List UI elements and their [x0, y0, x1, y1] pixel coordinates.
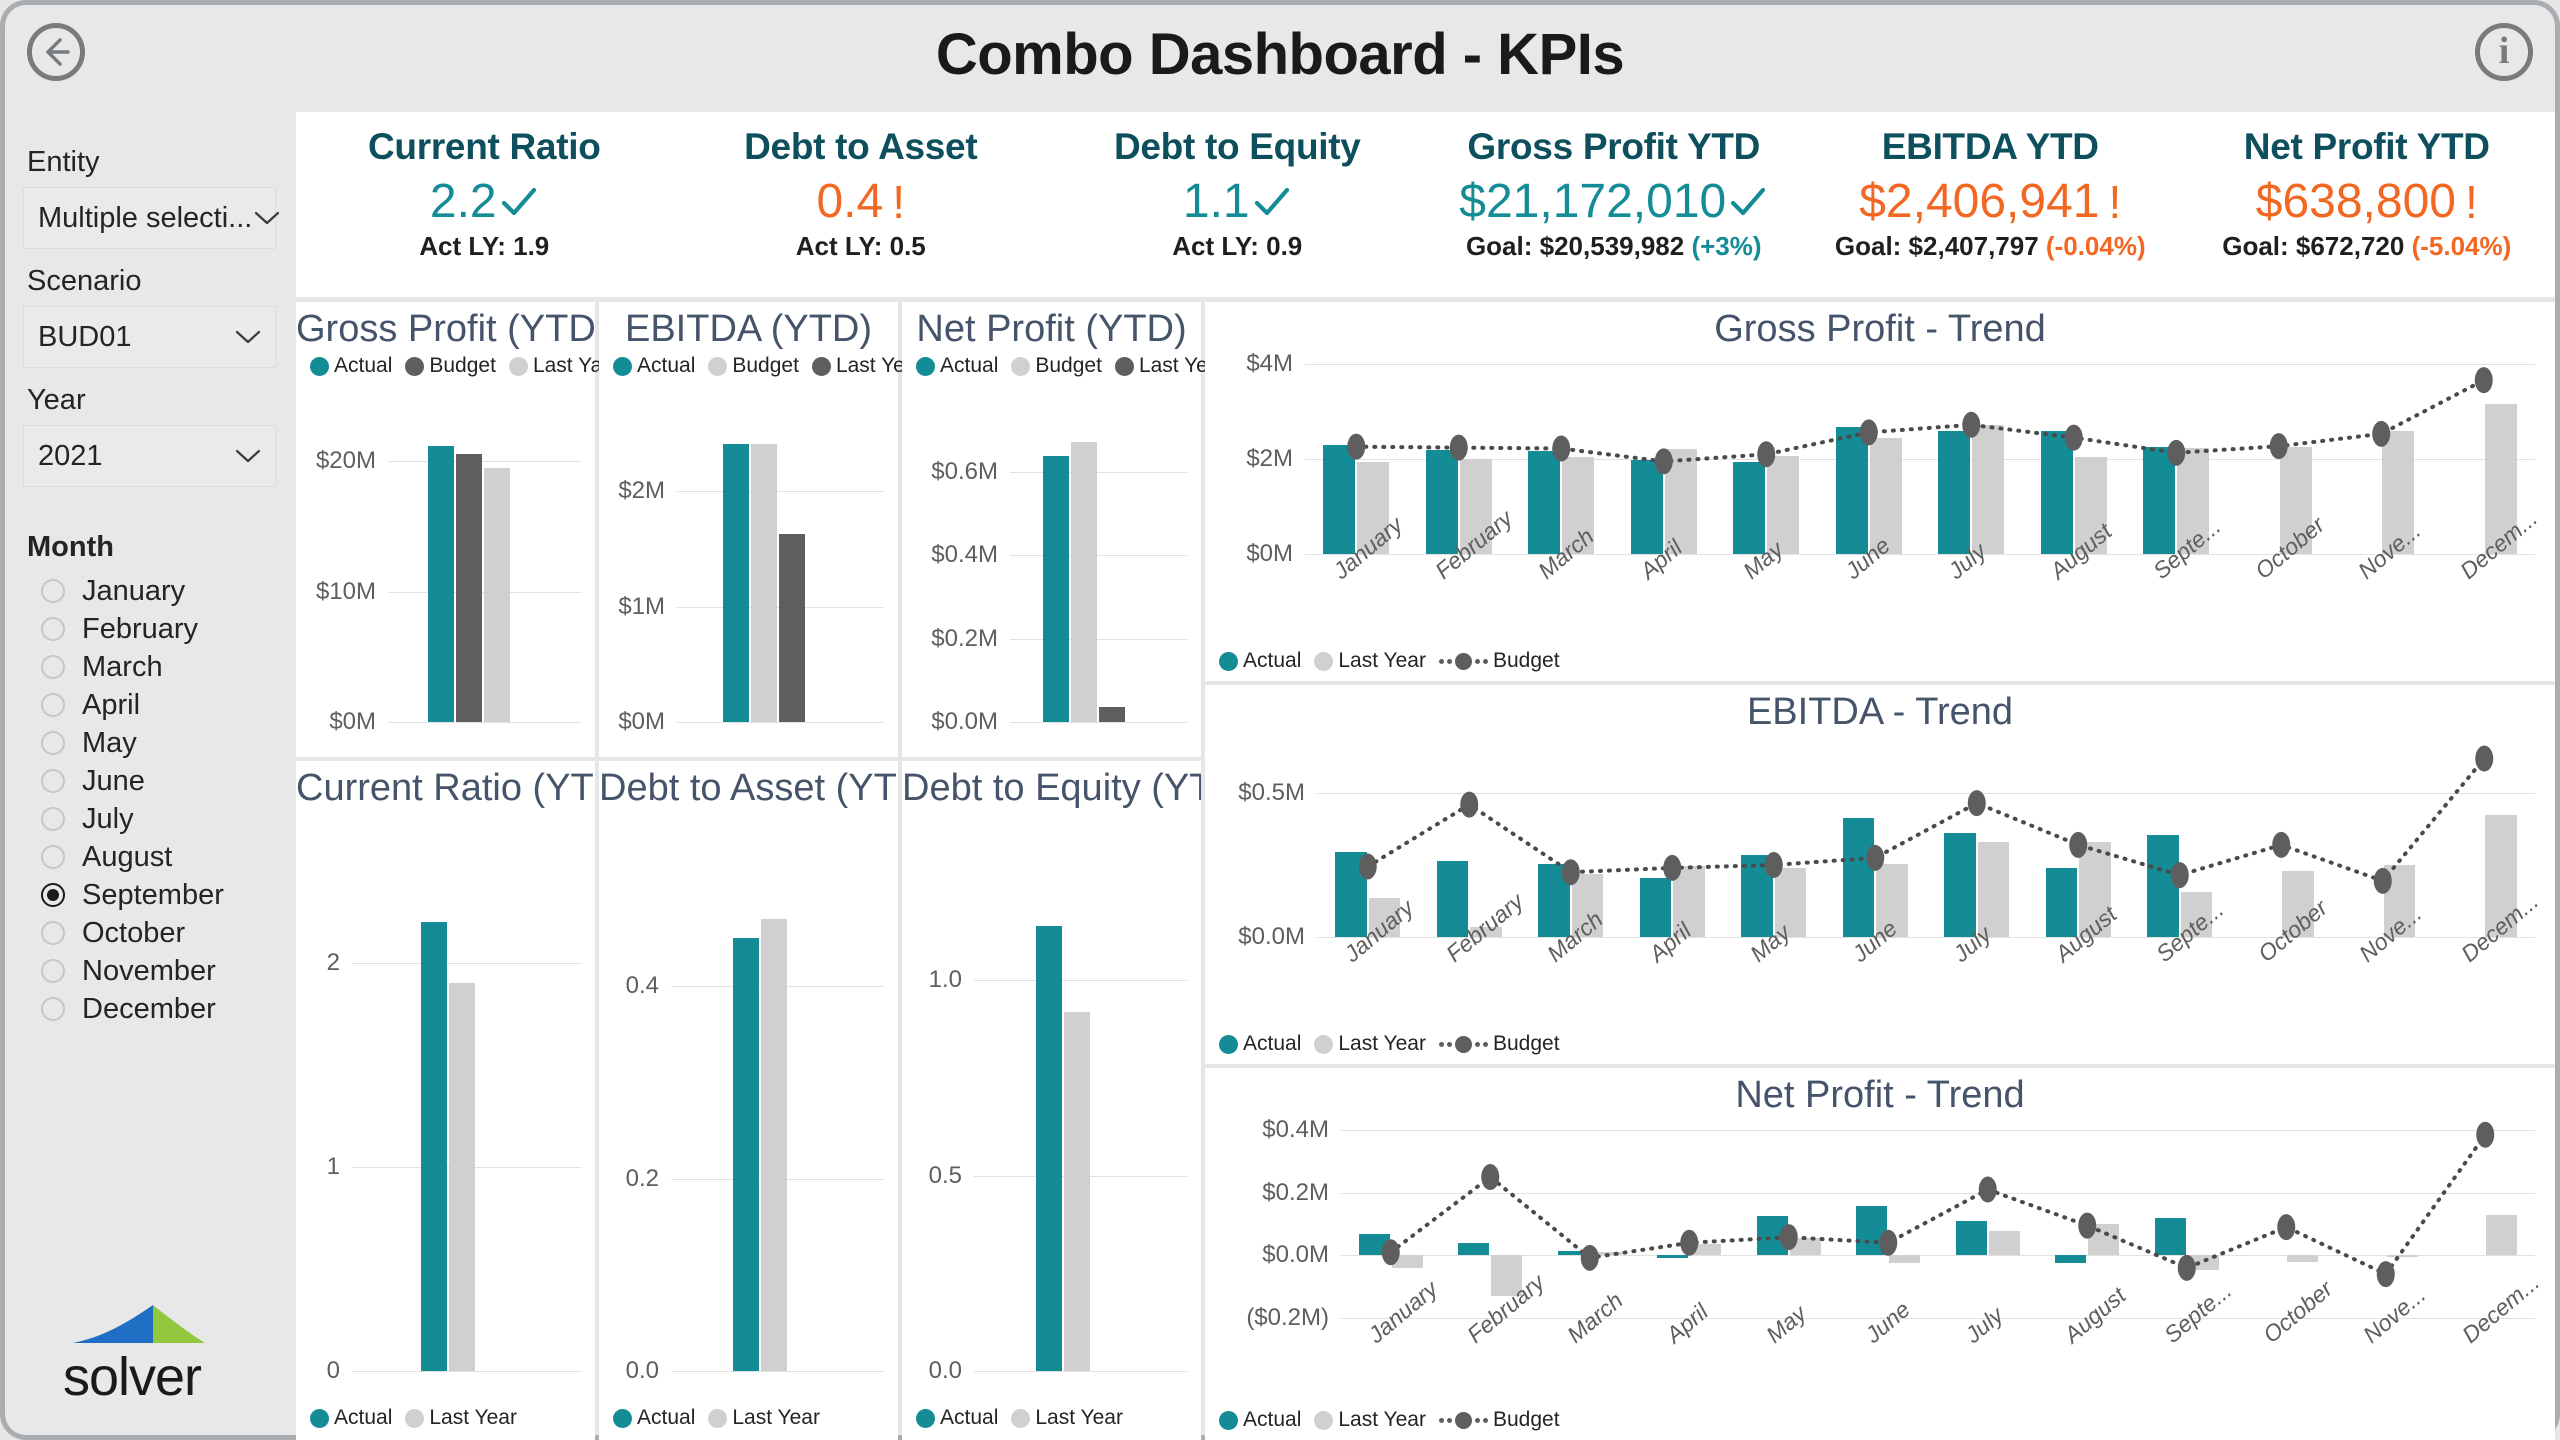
- chart-legend: ActualLast Year: [310, 1406, 517, 1430]
- y-axis-tick: 2: [296, 949, 340, 977]
- chart-title: Debt to Asset (YTD): [599, 761, 898, 810]
- chart-title: Net Profit - Trend: [1205, 1068, 2555, 1117]
- chart-tile-gross-profit-ytd[interactable]: Gross Profit (YTD)ActualBudgetLast Yaer$…: [296, 302, 595, 757]
- legend-item-budget[interactable]: Budget: [1011, 354, 1102, 378]
- solver-logo-mark: solver: [55, 1299, 255, 1409]
- y-axis-tick: $0.0M: [1207, 1241, 1329, 1269]
- kpi-sub-prefix: Goal: $20,539,982: [1466, 231, 1684, 261]
- radio-icon: [41, 807, 65, 831]
- legend-item-last-year[interactable]: Last Year: [1314, 1032, 1426, 1056]
- kpi-value: 2.2: [430, 174, 539, 229]
- y-axis-tick: $0.0M: [902, 708, 998, 736]
- chart-title: Debt to Equity (YTD): [902, 761, 1201, 810]
- legend-swatch: [708, 1409, 727, 1428]
- legend-swatch: [509, 357, 528, 376]
- radio-icon: [41, 845, 65, 869]
- legend-item-last-year[interactable]: Last Year: [405, 1406, 517, 1430]
- budget-marker: [1450, 435, 1468, 461]
- month-option-december[interactable]: December: [5, 990, 296, 1028]
- gridline: [388, 722, 581, 723]
- kpi-title: Debt to Equity: [1114, 126, 1361, 168]
- legend-swatch: [1011, 357, 1030, 376]
- legend-swatch: [310, 1409, 329, 1428]
- radio-icon: [41, 959, 65, 983]
- budget-marker: [2065, 425, 2083, 451]
- legend-swatch: [1314, 1035, 1333, 1054]
- gridline: [352, 1371, 581, 1372]
- month-option-label: August: [82, 841, 172, 874]
- bar-actual[interactable]: [1043, 456, 1069, 722]
- legend-swatch: [1219, 1411, 1238, 1430]
- kpi-card-net-profit-ytd[interactable]: Net Profit YTD$638,800!Goal: $672,720 (-…: [2179, 112, 2556, 297]
- check-icon: [1728, 182, 1768, 222]
- bar-last-year[interactable]: [1064, 1012, 1090, 1371]
- kpi-value: $2,406,941!: [1859, 174, 2121, 229]
- legend-item-actual[interactable]: Actual: [1219, 1408, 1301, 1432]
- kpi-card-gross-profit-ytd[interactable]: Gross Profit YTD$21,172,010Goal: $20,539…: [1426, 112, 1803, 297]
- legend-label: Actual: [637, 1406, 695, 1430]
- kpi-sub-prefix: Act LY: 0.5: [796, 231, 926, 261]
- budget-marker: [2069, 832, 2087, 858]
- budget-marker: [1382, 1239, 1400, 1265]
- kpi-number: 1.1: [1183, 174, 1250, 229]
- legend-swatch: [1011, 1409, 1030, 1428]
- chart-title: Gross Profit (YTD): [296, 302, 595, 351]
- month-radio-group: JanuaryFebruaryMarchAprilMayJuneJulyAugu…: [5, 572, 296, 1028]
- y-axis-tick: 0.0: [599, 1357, 659, 1385]
- year-slicer[interactable]: 2021: [23, 425, 276, 487]
- month-option-january[interactable]: January: [5, 572, 296, 610]
- radio-icon: [41, 731, 65, 755]
- gridline: [1010, 555, 1187, 556]
- plot-area: [1010, 422, 1187, 722]
- month-option-september[interactable]: September: [5, 876, 296, 914]
- month-option-march[interactable]: March: [5, 648, 296, 686]
- budget-marker: [2272, 832, 2290, 858]
- y-axis-tick: $0.2M: [1207, 1179, 1329, 1207]
- budget-marker: [1765, 852, 1783, 878]
- scenario-slicer[interactable]: BUD01: [23, 306, 276, 368]
- y-axis-tick: $0M: [296, 708, 376, 736]
- budget-marker: [2476, 1122, 2494, 1148]
- legend-label: Last Year: [1035, 1406, 1123, 1430]
- month-option-february[interactable]: February: [5, 610, 296, 648]
- budget-marker: [1460, 792, 1478, 818]
- legend-item-budget[interactable]: Budget: [1439, 649, 1560, 673]
- bar-last-year[interactable]: [761, 919, 787, 1371]
- legend-item-budget[interactable]: Budget: [1439, 1032, 1560, 1056]
- y-axis-tick: ($0.2M): [1207, 1304, 1329, 1332]
- legend-label: Last Year: [1338, 1032, 1426, 1056]
- chart-tile-net-profit-ytd[interactable]: Net Profit (YTD)ActualBudgetLast Year$0.…: [902, 302, 1201, 757]
- chart-title: EBITDA (YTD): [599, 302, 898, 351]
- bar-last-year[interactable]: [449, 983, 475, 1371]
- gridline: [1010, 639, 1187, 640]
- month-option-label: February: [82, 613, 198, 646]
- kpi-subtext: Act LY: 1.9: [419, 231, 549, 262]
- legend-label: Budget: [1493, 1032, 1560, 1056]
- y-axis-tick: 0: [296, 1357, 340, 1385]
- kpi-sub-prefix: Goal: $2,407,797: [1835, 231, 2039, 261]
- plot-area: [352, 871, 581, 1371]
- y-axis-tick: $0.2M: [902, 625, 998, 653]
- budget-marker: [1962, 412, 1980, 438]
- bar-last-year[interactable]: [1099, 707, 1125, 722]
- bar-actual[interactable]: [421, 922, 447, 1371]
- legend-label: Budget: [732, 354, 799, 378]
- y-axis-tick: $2M: [599, 477, 665, 505]
- legend-label: Last Year: [1338, 649, 1426, 673]
- bar-actual[interactable]: [1036, 926, 1062, 1371]
- legend-swatch: [405, 1409, 424, 1428]
- y-axis-tick: $1M: [599, 593, 665, 621]
- budget-marker: [1860, 419, 1878, 445]
- gridline: [352, 963, 581, 964]
- chart-legend: ActualLast YearBudget: [1219, 649, 1560, 673]
- legend-item-actual[interactable]: Actual: [916, 1406, 998, 1430]
- y-axis-tick: $4M: [1207, 350, 1293, 378]
- legend-label: Actual: [1243, 649, 1301, 673]
- chart-tile-net-profit-trend[interactable]: Net Profit - TrendActualLast YearBudget$…: [1205, 1068, 2555, 1440]
- legend-item-last-year[interactable]: Last Year: [1314, 1408, 1426, 1432]
- budget-marker: [2078, 1213, 2096, 1239]
- solver-logo: solver: [55, 1299, 255, 1409]
- gridline: [1010, 472, 1187, 473]
- budget-marker: [1879, 1230, 1897, 1256]
- y-axis-tick: 0.4: [599, 972, 659, 1000]
- chart-title: Gross Profit - Trend: [1205, 302, 2555, 351]
- kpi-title: Debt to Asset: [744, 126, 977, 168]
- kpi-number: 0.4: [816, 174, 883, 229]
- month-option-may[interactable]: May: [5, 724, 296, 762]
- legend-item-actual[interactable]: Actual: [916, 354, 998, 378]
- kpi-card-current-ratio[interactable]: Current Ratio2.2Act LY: 1.9: [296, 112, 673, 297]
- y-axis-tick: 1.0: [902, 966, 962, 994]
- month-option-october[interactable]: October: [5, 914, 296, 952]
- bar-last-yaer[interactable]: [484, 468, 510, 722]
- legend-item-actual[interactable]: Actual: [1219, 649, 1301, 673]
- dotted-line-icon: [1439, 653, 1488, 670]
- gridline: [677, 491, 884, 492]
- legend-item-actual[interactable]: Actual: [310, 354, 392, 378]
- entity-slicer[interactable]: Multiple selecti...: [23, 187, 276, 249]
- radio-icon: [41, 617, 65, 641]
- chart-legend: ActualLast Year: [916, 1406, 1123, 1430]
- month-option-label: May: [82, 727, 137, 760]
- legend-label: Last Year: [732, 1406, 820, 1430]
- budget-marker: [2374, 868, 2392, 894]
- legend-swatch: [405, 357, 424, 376]
- bar-actual[interactable]: [733, 938, 759, 1371]
- check-icon: [1252, 182, 1292, 222]
- chevron-down-icon: [233, 328, 263, 346]
- bar-actual[interactable]: [723, 444, 749, 722]
- warning-icon: !: [885, 175, 905, 229]
- kpi-subtext: Goal: $672,720 (-5.04%): [2222, 231, 2511, 262]
- legend-item-actual[interactable]: Actual: [613, 354, 695, 378]
- plot-area: [388, 422, 581, 722]
- chart-tile-gross-profit-trend[interactable]: Gross Profit - TrendActualLast YearBudge…: [1205, 302, 2555, 681]
- budget-marker: [1347, 434, 1365, 460]
- y-axis-tick: $10M: [296, 578, 376, 606]
- month-option-april[interactable]: April: [5, 686, 296, 724]
- month-option-label: July: [82, 803, 134, 836]
- kpi-subtext: Act LY: 0.9: [1172, 231, 1302, 262]
- budget-marker: [1680, 1230, 1698, 1256]
- plot-area: [671, 871, 884, 1371]
- plot-area: [677, 422, 884, 722]
- bar-budget[interactable]: [751, 444, 777, 722]
- kpi-title: EBITDA YTD: [1882, 126, 2099, 168]
- dashboard-root: Combo Dashboard - KPIs i Entity Multiple…: [0, 0, 2560, 1440]
- svg-text:solver: solver: [63, 1347, 202, 1407]
- legend-item-actual[interactable]: Actual: [310, 1406, 392, 1430]
- y-axis-tick: $2M: [1207, 445, 1293, 473]
- budget-marker: [1968, 790, 1986, 816]
- chart-title: Current Ratio (YTD): [296, 761, 595, 810]
- gridline: [677, 722, 884, 723]
- gridline: [1305, 554, 2535, 555]
- legend-item-budget[interactable]: Budget: [405, 354, 496, 378]
- chart-tile-ebitda-trend[interactable]: EBITDA - TrendActualLast YearBudget$0.5M…: [1205, 685, 2555, 1064]
- budget-marker: [2167, 440, 2185, 466]
- budget-marker: [1780, 1224, 1798, 1250]
- dotted-line-icon: [1439, 1412, 1488, 1429]
- budget-marker: [2475, 367, 2493, 393]
- month-option-august[interactable]: August: [5, 838, 296, 876]
- gridline: [974, 980, 1187, 981]
- kpi-number: $2,406,941: [1859, 174, 2099, 229]
- legend-swatch: [1314, 652, 1333, 671]
- gridline: [1341, 1318, 2535, 1319]
- scenario-label: Scenario: [5, 265, 296, 298]
- kpi-card-debt-to-equity[interactable]: Debt to Equity1.1Act LY: 0.9: [1049, 112, 1426, 297]
- budget-marker: [1866, 845, 1884, 871]
- legend-label: Budget: [429, 354, 496, 378]
- legend-swatch: [916, 357, 935, 376]
- budget-marker: [2171, 862, 2189, 888]
- kpi-card-ebitda-ytd[interactable]: EBITDA YTD$2,406,941!Goal: $2,407,797 (-…: [1802, 112, 2179, 297]
- chart-legend: ActualBudgetLast Year: [613, 354, 924, 378]
- entity-value: Multiple selecti...: [38, 202, 252, 235]
- kpi-card-debt-to-asset[interactable]: Debt to Asset0.4!Act LY: 0.5: [673, 112, 1050, 297]
- kpi-number: $21,172,010: [1459, 174, 1726, 229]
- kpi-strip: Current Ratio2.2Act LY: 1.9Debt to Asset…: [296, 112, 2555, 297]
- year-label: Year: [5, 384, 296, 417]
- month-option-label: April: [82, 689, 140, 722]
- check-icon: [499, 182, 539, 222]
- budget-marker: [2372, 421, 2390, 447]
- budget-marker: [1655, 448, 1673, 474]
- legend-item-actual[interactable]: Actual: [1219, 1032, 1301, 1056]
- radio-icon: [41, 655, 65, 679]
- legend-item-budget[interactable]: Budget: [1439, 1408, 1560, 1432]
- month-option-june[interactable]: June: [5, 762, 296, 800]
- legend-label: Last Year: [429, 1406, 517, 1430]
- legend-swatch: [1115, 357, 1134, 376]
- legend-label: Actual: [940, 1406, 998, 1430]
- chart-title: EBITDA - Trend: [1205, 685, 2555, 734]
- chart-legend: ActualLast YearBudget: [1219, 1032, 1560, 1056]
- legend-swatch: [1314, 1411, 1333, 1430]
- bar-budget[interactable]: [1071, 442, 1097, 722]
- kpi-title: Net Profit YTD: [2244, 126, 2490, 168]
- gridline: [388, 461, 581, 462]
- legend-swatch: [916, 1409, 935, 1428]
- chart-tile-ebitda-ytd[interactable]: EBITDA (YTD)ActualBudgetLast Year$2M$1M$…: [599, 302, 898, 757]
- month-option-label: December: [82, 993, 216, 1026]
- gridline: [1317, 937, 2535, 938]
- legend-item-last-year[interactable]: Last Year: [1011, 1406, 1123, 1430]
- month-option-label: June: [82, 765, 145, 798]
- month-option-july[interactable]: July: [5, 800, 296, 838]
- y-axis-tick: 0.5: [902, 1162, 962, 1190]
- chevron-down-icon: [252, 209, 282, 227]
- legend-label: Actual: [334, 354, 392, 378]
- month-option-label: October: [82, 917, 185, 950]
- radio-icon: [41, 769, 65, 793]
- kpi-subtext: Goal: $20,539,982 (+3%): [1466, 231, 1762, 262]
- budget-marker: [1979, 1177, 1997, 1203]
- radio-icon: [41, 579, 65, 603]
- legend-label: Actual: [1243, 1032, 1301, 1056]
- warning-icon: !: [2101, 175, 2121, 229]
- radio-icon: [41, 883, 65, 907]
- legend-item-last-year[interactable]: Last Year: [1314, 649, 1426, 673]
- y-axis-tick: $0M: [1207, 540, 1293, 568]
- chart-tile-debt-to-equity-ytd[interactable]: Debt to Equity (YTD)ActualLast Year1.00.…: [902, 761, 1201, 1440]
- month-option-november[interactable]: November: [5, 952, 296, 990]
- y-axis-tick: $0.4M: [902, 541, 998, 569]
- budget-marker: [1663, 855, 1681, 881]
- kpi-subtext: Act LY: 0.5: [796, 231, 926, 262]
- kpi-number: $638,800: [2256, 174, 2456, 229]
- legend-label: Budget: [1035, 354, 1102, 378]
- legend-item-actual[interactable]: Actual: [613, 1406, 695, 1430]
- dotted-line-icon: [1439, 1036, 1488, 1053]
- kpi-value: $638,800!: [2256, 174, 2478, 229]
- month-option-label: September: [82, 879, 224, 912]
- gridline: [671, 1371, 884, 1372]
- legend-item-last-year[interactable]: Last Year: [708, 1406, 820, 1430]
- y-axis-tick: $0.5M: [1207, 779, 1305, 807]
- legend-label: Actual: [637, 354, 695, 378]
- budget-marker: [2178, 1255, 2196, 1281]
- y-axis-tick: $0.0M: [1207, 923, 1305, 951]
- legend-label: Actual: [1243, 1408, 1301, 1432]
- bar-budget[interactable]: [456, 454, 482, 722]
- app-header: Combo Dashboard - KPIs i: [0, 0, 2560, 112]
- budget-marker: [1359, 853, 1377, 879]
- legend-label: Budget: [1493, 649, 1560, 673]
- gridline: [974, 1371, 1187, 1372]
- entity-label: Entity: [5, 146, 296, 179]
- budget-marker: [1562, 859, 1580, 885]
- legend-swatch: [613, 1409, 632, 1428]
- scenario-value: BUD01: [38, 321, 132, 354]
- legend-label: Last Year: [1338, 1408, 1426, 1432]
- budget-marker: [2270, 433, 2288, 459]
- kpi-value: 1.1: [1183, 174, 1292, 229]
- legend-swatch: [812, 357, 831, 376]
- y-axis-tick: $0.4M: [1207, 1116, 1329, 1144]
- legend-item-budget[interactable]: Budget: [708, 354, 799, 378]
- plot-area: [974, 871, 1187, 1371]
- chart-legend: ActualBudgetLast Yaer: [310, 354, 621, 378]
- kpi-subtext: Goal: $2,407,797 (-0.04%): [1835, 231, 2146, 262]
- chart-legend: ActualLast YearBudget: [1219, 1408, 1560, 1432]
- legend-label: Actual: [940, 354, 998, 378]
- month-option-label: January: [82, 575, 185, 608]
- y-axis-tick: $0.6M: [902, 458, 998, 486]
- kpi-sub-prefix: Goal: $672,720: [2222, 231, 2404, 261]
- kpi-sub-delta: (-0.04%): [2039, 231, 2146, 261]
- legend-swatch: [1219, 652, 1238, 671]
- y-axis-tick: $0M: [599, 708, 665, 736]
- budget-marker: [1757, 441, 1775, 467]
- kpi-number: 2.2: [430, 174, 497, 229]
- budget-marker: [2277, 1214, 2295, 1240]
- legend-label: Actual: [334, 1406, 392, 1430]
- month-label: Month: [5, 531, 296, 564]
- legend-swatch: [1219, 1035, 1238, 1054]
- bar-actual[interactable]: [428, 446, 454, 722]
- month-option-label: November: [82, 955, 216, 988]
- chevron-down-icon: [233, 447, 263, 465]
- legend-label: Budget: [1493, 1408, 1560, 1432]
- kpi-title: Current Ratio: [368, 126, 601, 168]
- kpi-sub-prefix: Act LY: 1.9: [419, 231, 549, 261]
- filter-sidebar: Entity Multiple selecti... Scenario BUD0…: [0, 112, 296, 1440]
- kpi-sub-delta: (-5.04%): [2404, 231, 2511, 261]
- chart-legend: ActualLast Year: [613, 1406, 820, 1430]
- chart-legend: ActualBudgetLast Year: [916, 354, 1227, 378]
- budget-marker: [1552, 436, 1570, 462]
- budget-marker: [2475, 746, 2493, 772]
- legend-swatch: [613, 357, 632, 376]
- budget-marker: [1581, 1245, 1599, 1271]
- month-option-label: March: [82, 651, 163, 684]
- page-title: Combo Dashboard - KPIs: [5, 21, 2555, 88]
- chart-title: Net Profit (YTD): [902, 302, 1201, 351]
- radio-icon: [41, 921, 65, 945]
- kpi-value: $21,172,010: [1459, 174, 1768, 229]
- kpi-sub-prefix: Act LY: 0.9: [1172, 231, 1302, 261]
- bar-last-year[interactable]: [779, 534, 805, 722]
- info-glyph: i: [2499, 32, 2510, 70]
- kpi-value: 0.4!: [816, 174, 905, 229]
- gridline: [1010, 722, 1187, 723]
- radio-icon: [41, 693, 65, 717]
- y-axis-tick: 0.0: [902, 1357, 962, 1385]
- kpi-title: Gross Profit YTD: [1467, 126, 1760, 168]
- year-value: 2021: [38, 440, 103, 473]
- dashboard-content: Current Ratio2.2Act LY: 1.9Debt to Asset…: [296, 112, 2560, 1440]
- info-icon[interactable]: i: [2475, 23, 2533, 81]
- kpi-sub-delta: (+3%): [1684, 231, 1761, 261]
- y-axis-tick: 1: [296, 1153, 340, 1181]
- radio-icon: [41, 997, 65, 1021]
- y-axis-tick: 0.2: [599, 1165, 659, 1193]
- legend-swatch: [708, 357, 727, 376]
- budget-marker: [2377, 1261, 2395, 1287]
- legend-swatch: [310, 357, 329, 376]
- budget-marker: [1481, 1164, 1499, 1190]
- warning-icon: !: [2458, 175, 2478, 229]
- chart-tile-current-ratio-ytd[interactable]: Current Ratio (YTD)ActualLast Year210: [296, 761, 595, 1440]
- chart-tile-debt-to-asset-ytd[interactable]: Debt to Asset (YTD)ActualLast Year0.40.2…: [599, 761, 898, 1440]
- y-axis-tick: $20M: [296, 447, 376, 475]
